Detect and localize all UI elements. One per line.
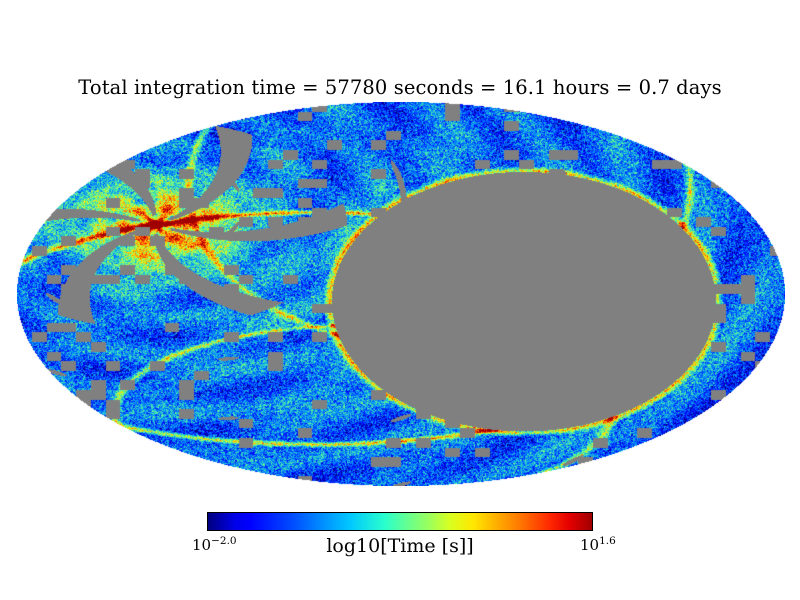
page-title: Total integration time = 57780 seconds =…	[0, 76, 800, 99]
mollweide-skymap	[17, 102, 785, 486]
colorbar-axis-label: log10[Time [s]]	[0, 535, 800, 557]
figure-canvas: Total integration time = 57780 seconds =…	[0, 0, 800, 600]
colorbar-group: 10−2.0 101.6 log10[Time [s]]	[0, 510, 800, 570]
skymap-panel	[17, 102, 785, 486]
colorbar-gradient	[207, 512, 593, 531]
